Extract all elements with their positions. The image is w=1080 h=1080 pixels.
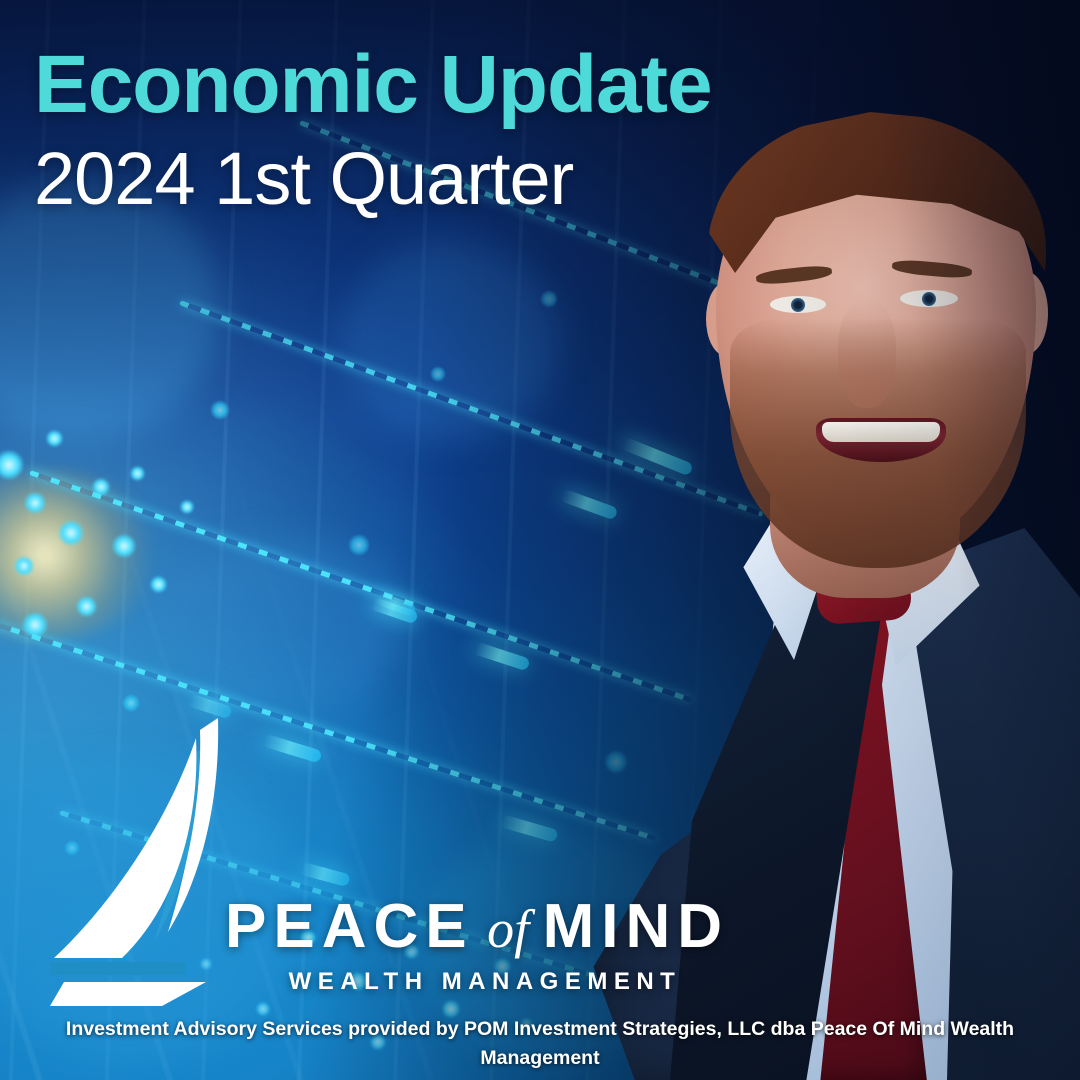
page-subtitle: 2024 1st Quarter [34,142,573,216]
iris-right [922,292,936,306]
sailboat-logo-icon [50,710,250,1010]
logo-wordmark: PEACE of MIND WEALTH MANAGEMENT [225,896,745,996]
economic-update-graphic: Economic Update 2024 1st Quarter PEACE o… [0,0,1080,1080]
logo-word-of: of [474,899,543,959]
iris-left [791,298,805,312]
eye-left [770,296,826,313]
nose [838,300,896,408]
logo-word-mind: MIND [543,892,729,961]
eye-right [900,290,958,307]
brand-logo[interactable]: PEACE of MIND WEALTH MANAGEMENT [40,700,720,1030]
disclaimer-text: Investment Advisory Services provided by… [0,1015,1080,1072]
logo-tagline: WEALTH MANAGEMENT [225,968,745,996]
logo-word-peace: PEACE [225,892,474,961]
page-title: Economic Update [34,44,712,126]
teeth [822,422,940,442]
